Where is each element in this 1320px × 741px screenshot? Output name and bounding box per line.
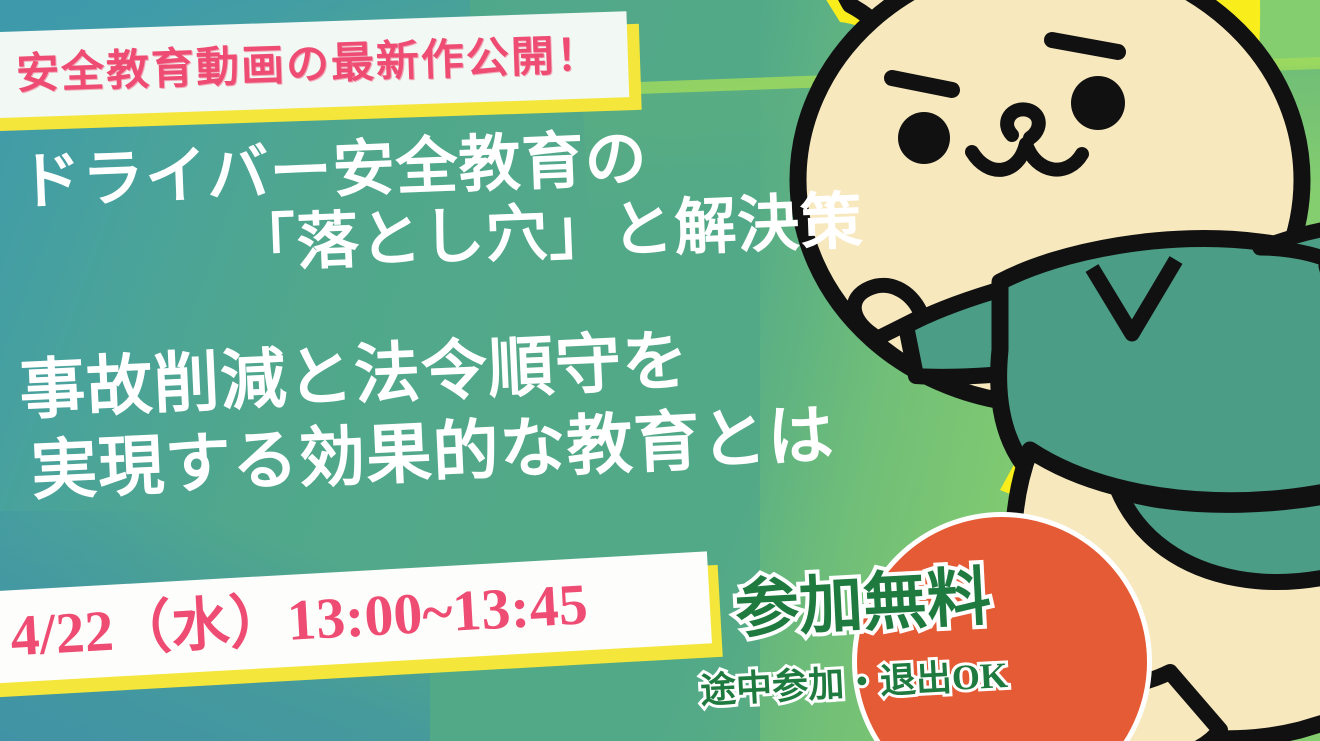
date-text: 4/22（水）13:00~13:45 xyxy=(9,575,589,665)
webinar-poster: 安全教育動画の最新作公開！ ドライバー安全教育の 「落とし穴」と解決策 事故削減… xyxy=(0,0,1320,741)
free-admission-label: 参加無料 xyxy=(734,565,993,642)
kicker-text: 安全教育動画の最新作公開！ xyxy=(15,34,601,96)
